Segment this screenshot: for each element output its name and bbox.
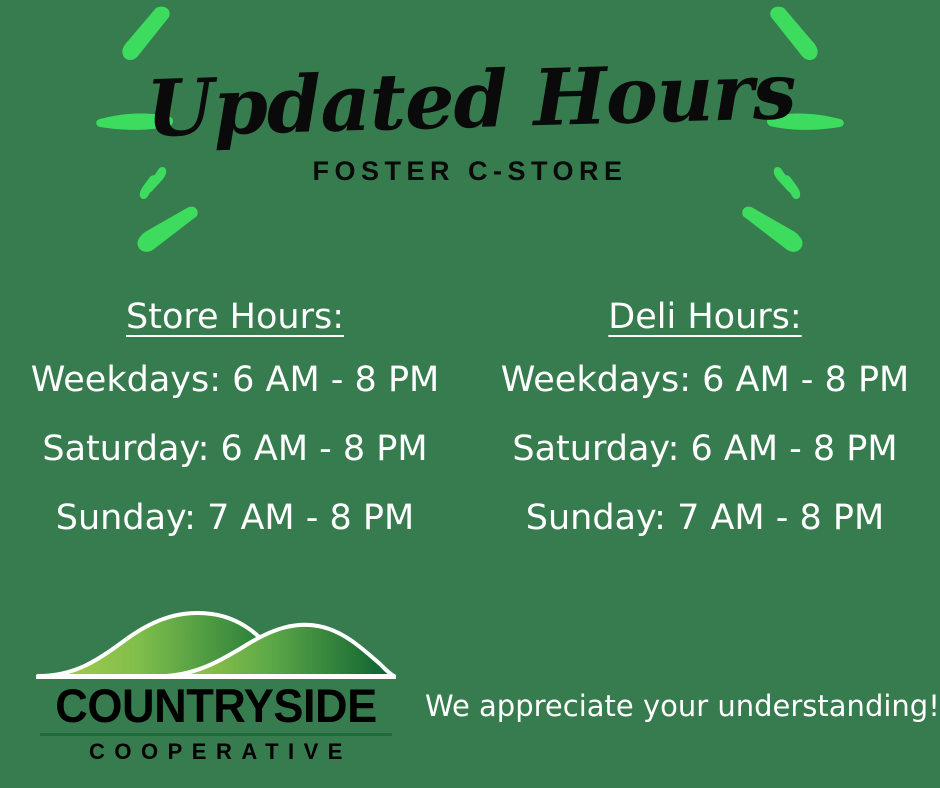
store-hours-column: Store Hours: Weekdays: 6 AM - 8 PM Satur… — [0, 300, 470, 570]
store-hours-sunday: Sunday: 7 AM - 8 PM — [0, 501, 470, 536]
logo-wordmark: COUNTRYSIDE — [43, 682, 389, 729]
deli-hours-weekdays: Weekdays: 6 AM - 8 PM — [470, 363, 940, 398]
logo-divider — [40, 733, 392, 736]
rolling-hills-icon — [36, 604, 396, 682]
page-title: Updated Hours — [0, 0, 940, 153]
logo-tagline: COOPERATIVE — [36, 741, 396, 763]
deli-hours-saturday: Saturday: 6 AM - 8 PM — [470, 432, 940, 467]
poster-canvas: Updated Hours FOSTER C-STORE Store Hours… — [0, 0, 940, 788]
hours-section: Store Hours: Weekdays: 6 AM - 8 PM Satur… — [0, 300, 940, 570]
poster-header: Updated Hours FOSTER C-STORE — [0, 0, 940, 187]
deli-hours-column: Deli Hours: Weekdays: 6 AM - 8 PM Saturd… — [470, 300, 940, 570]
deli-hours-heading: Deli Hours: — [470, 300, 940, 335]
appreciation-note: We appreciate your understanding! — [425, 692, 940, 721]
store-hours-weekdays: Weekdays: 6 AM - 8 PM — [0, 363, 470, 398]
store-hours-heading: Store Hours: — [0, 300, 470, 335]
store-hours-saturday: Saturday: 6 AM - 8 PM — [0, 432, 470, 467]
deli-hours-sunday: Sunday: 7 AM - 8 PM — [470, 501, 940, 536]
countryside-cooperative-logo: COUNTRYSIDE COOPERATIVE — [36, 604, 396, 763]
